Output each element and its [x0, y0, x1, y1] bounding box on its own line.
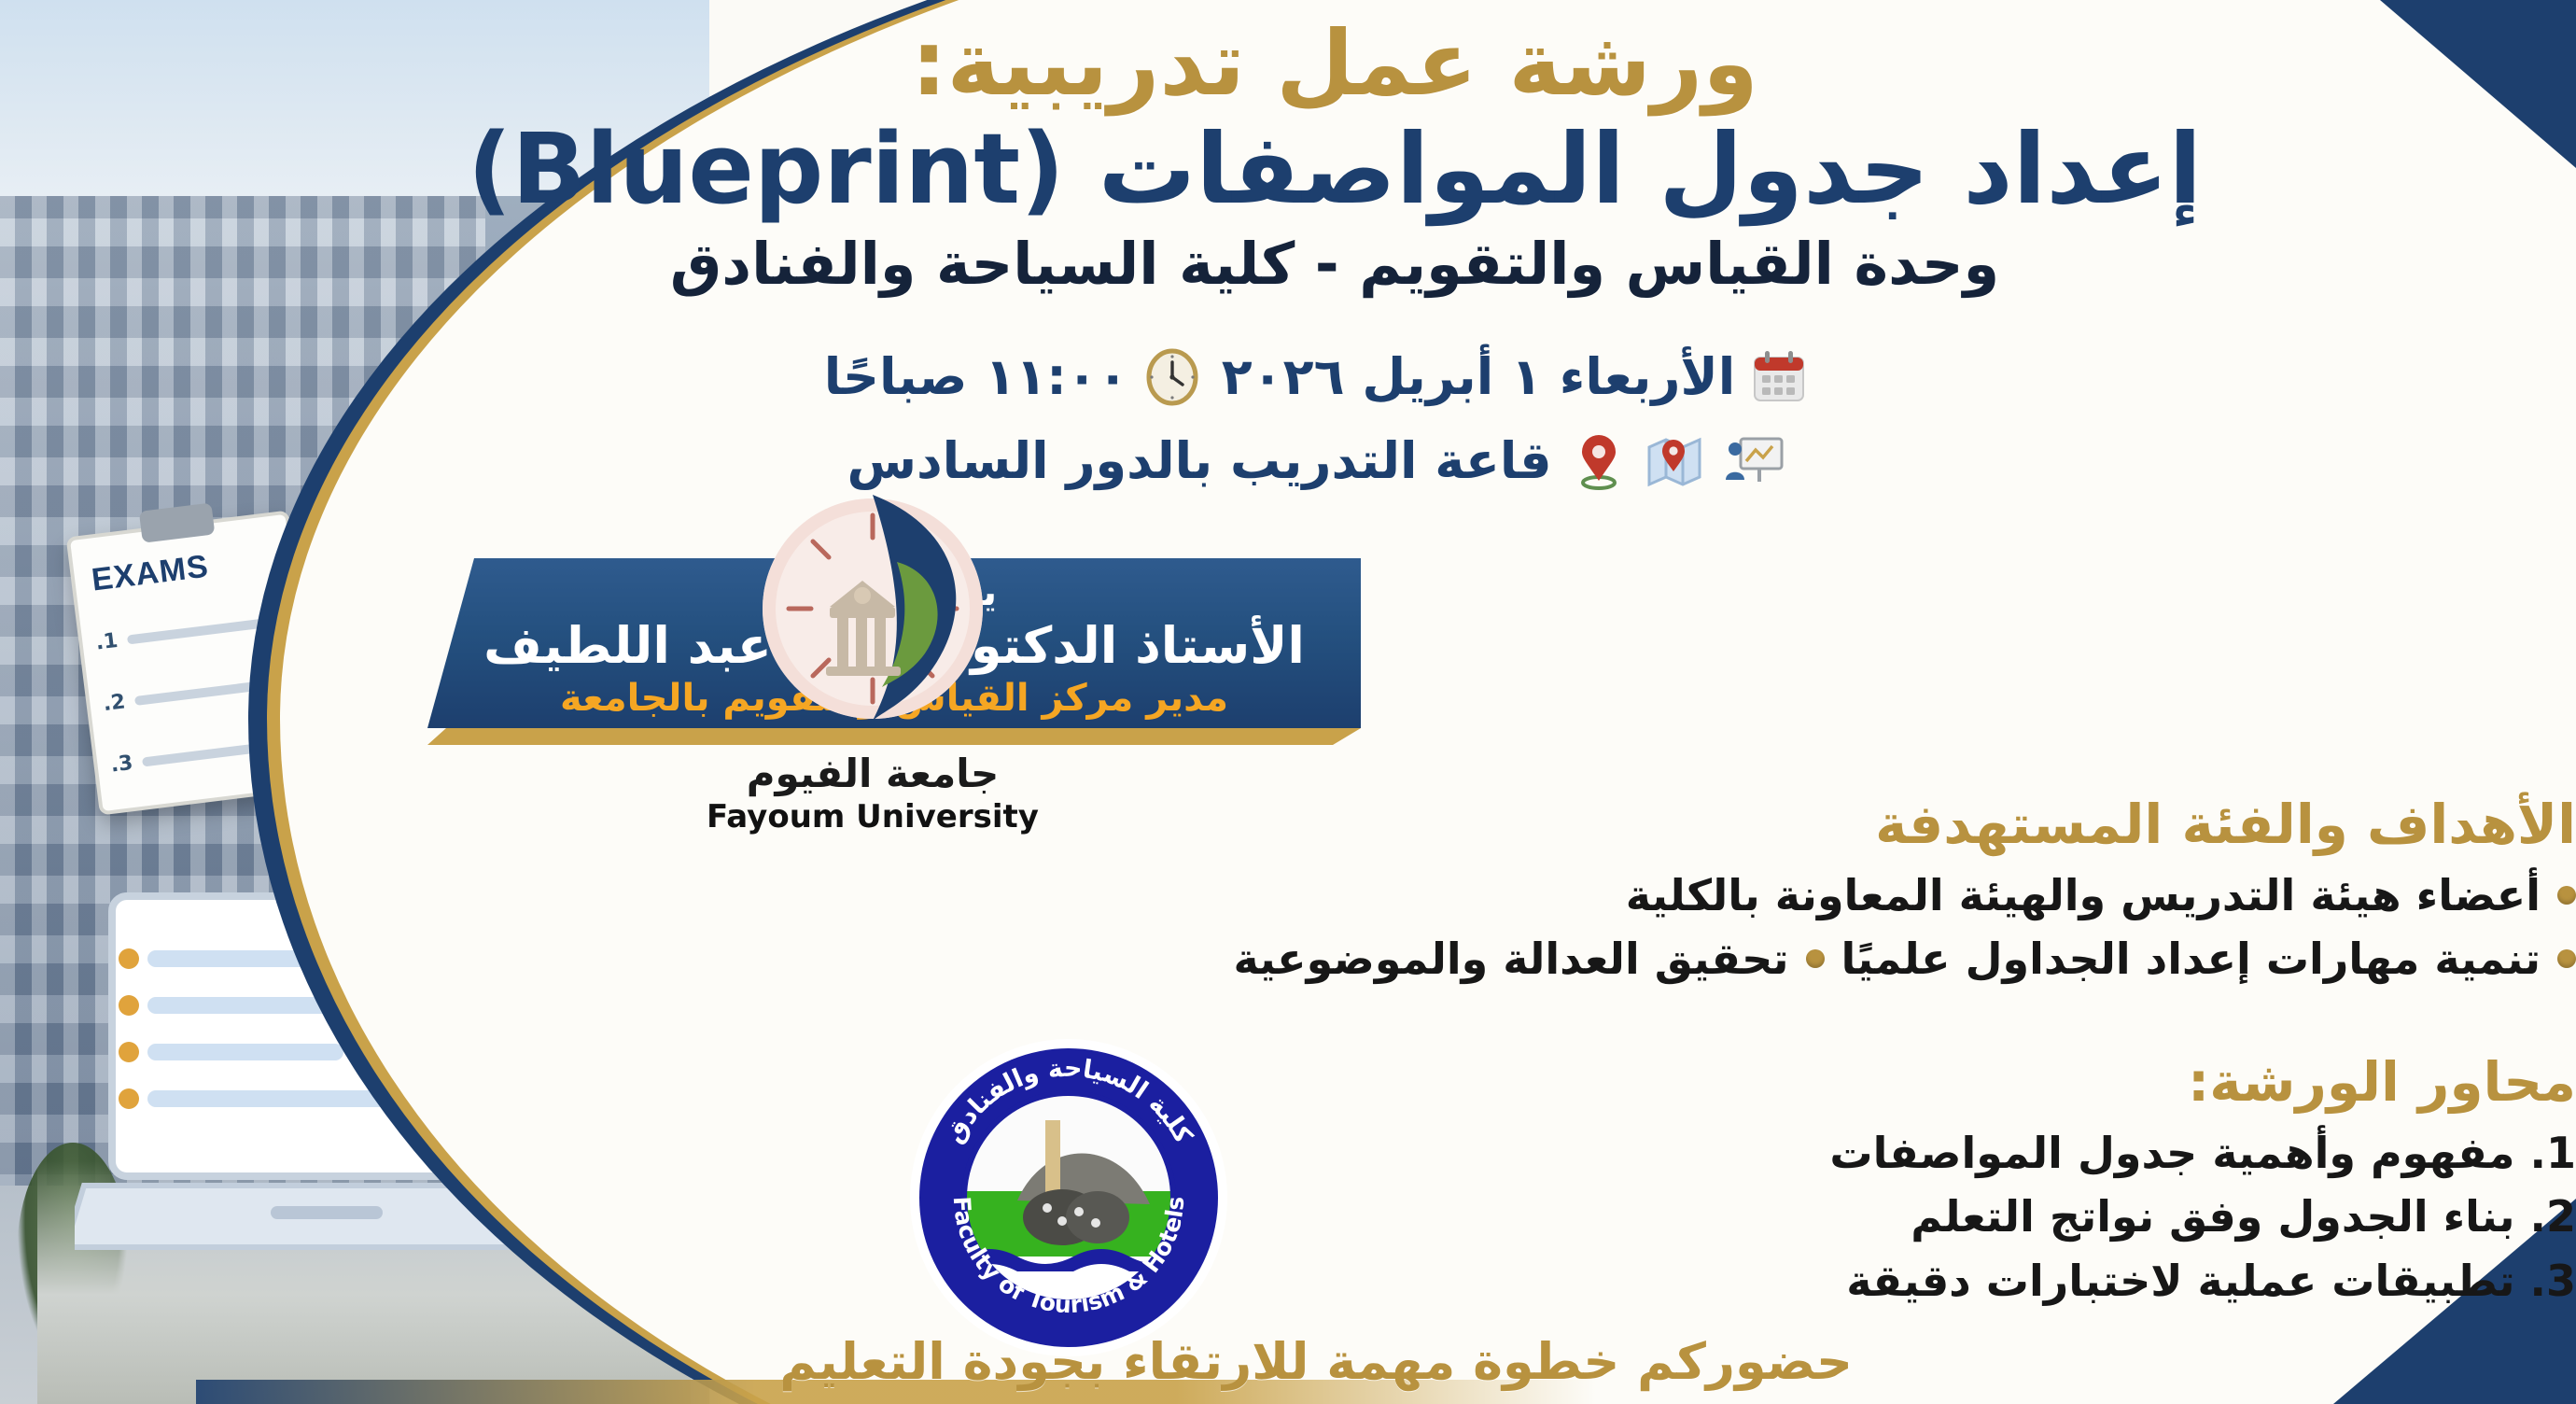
topics-list: 1. مفهوم وأهمية جدول المواصفات 2. بناء ا…	[821, 1122, 2576, 1313]
bullet-dot-icon	[2557, 949, 2576, 968]
clock-icon	[1143, 348, 1201, 406]
event-time-group: ١١:٠٠ صباحًا	[824, 347, 1201, 406]
map-icon	[1645, 434, 1703, 488]
topics-list-item: 1. مفهوم وأهمية جدول المواصفات	[821, 1122, 2576, 1185]
bullet-dot-icon	[1806, 949, 1825, 968]
event-time-text: ١١:٠٠ صباحًا	[824, 347, 1128, 406]
topics-list-item: 2. بناء الجدول وفق نواتج التعلم	[821, 1186, 2576, 1248]
exams-item-number: 3.	[109, 751, 134, 778]
poster-tagline: حضوركم خطوة مهمة للارتقاء بجودة التعليم	[224, 1332, 2408, 1391]
location-pin-icon	[1573, 432, 1625, 490]
topics-list-item: 3. تطبيقات عملية لاختبارات دقيقة	[821, 1250, 2576, 1313]
goals-bullet-text: تنمية مهارات إعداد الجداول علميًا	[1841, 930, 2541, 988]
event-datetime-row: الأربعاء ١ أبريل ٢٠٢٦ ١١:٠٠ ص	[252, 347, 2380, 406]
goals-bullet-item: أعضاء هيئة التدريس والهيئة المعاونة بالك…	[821, 866, 2576, 924]
event-date-text: الأربعاء ١ أبريل ٢٠٢٦	[1222, 347, 1736, 406]
goals-bullet-row: تنمية مهارات إعداد الجداول علميًا تحقيق …	[821, 930, 2576, 988]
presenter-board-icon	[1724, 433, 1785, 489]
event-date-group: الأربعاء ١ أبريل ٢٠٢٦	[1222, 347, 1809, 406]
exams-item-number: 1.	[94, 629, 119, 655]
poster-title: إعداد جدول المواصفات (Blueprint)	[261, 117, 2408, 221]
university-logo: جامعة الفيوم Fayoum University	[700, 476, 1045, 835]
poster-subtitle: وحدة القياس والتقويم - كلية السياحة والف…	[261, 231, 2408, 297]
bullet-dot-icon	[2557, 886, 2576, 905]
goals-bullet-text: تحقيق العدالة والموضوعية	[1234, 930, 1789, 988]
calendar-icon	[1750, 348, 1808, 406]
university-name-ar: جامعة الفيوم	[700, 751, 1045, 796]
university-emblem-icon	[733, 476, 1013, 747]
poster-kicker: ورشة عمل تدريبية:	[261, 17, 2408, 111]
exams-item-number: 2.	[102, 690, 127, 716]
topics-section: محاور الورشة: 1. مفهوم وأهمية جدول الموا…	[411, 1053, 2576, 1313]
exams-card-title: EXAMS	[90, 548, 211, 598]
goals-section: الأهداف والفئة المستهدفة أعضاء هيئة التد…	[411, 795, 2576, 988]
topics-heading: محاور الورشة:	[821, 1053, 2576, 1113]
goals-bullet-text: أعضاء هيئة التدريس والهيئة المعاونة بالك…	[1626, 866, 2541, 924]
poster-heading-block: ورشة عمل تدريبية: إعداد جدول المواصفات (…	[261, 17, 2408, 297]
goals-heading: الأهداف والفئة المستهدفة	[821, 795, 2576, 855]
goals-bullet-list: أعضاء هيئة التدريس والهيئة المعاونة بالك…	[821, 866, 2576, 988]
poster-canvas: EXAMS 1. 2. 3.	[0, 0, 2576, 1404]
event-venue-row: قاعة التدريب بالدور السادس	[252, 431, 2380, 490]
